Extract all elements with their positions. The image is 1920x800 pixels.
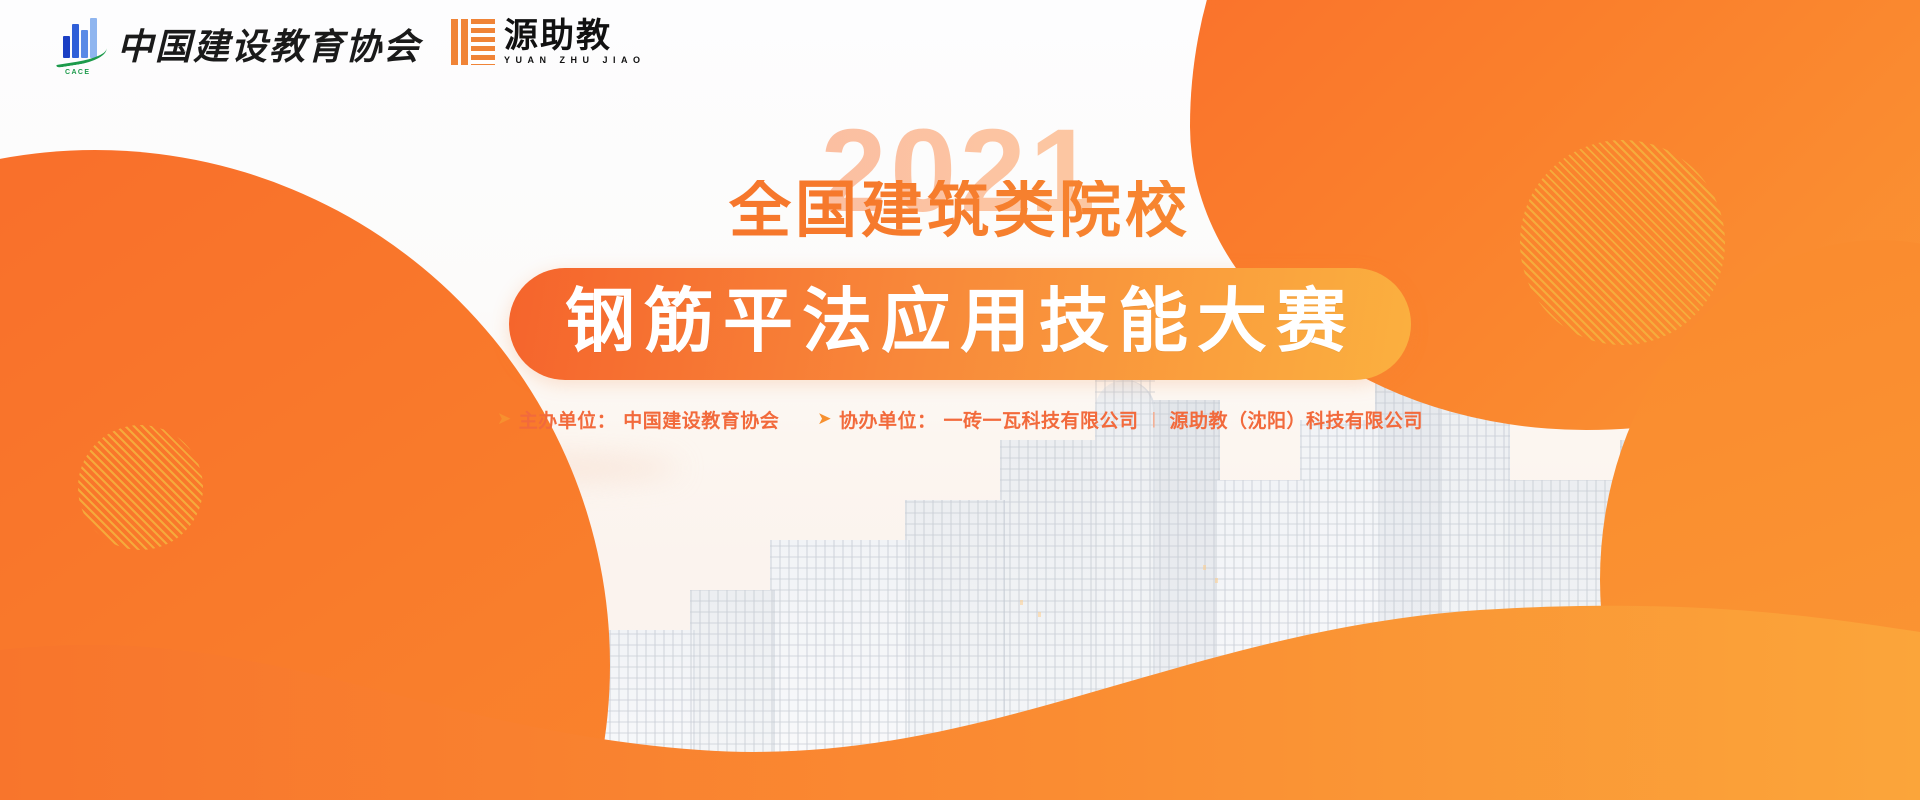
chevron-right-icon: ➤ [497, 410, 512, 427]
bar-chart-swoosh-icon: CACE [55, 14, 107, 70]
yuanzhujiao-wordmark: 源助教 YUAN ZHU JIAO [504, 19, 646, 66]
yuanzhujiao-name-cn: 源助教 [504, 19, 646, 55]
orange-wave-bottom [0, 500, 1920, 800]
banner-subtitle: 全国建筑类院校 [0, 180, 1920, 242]
yuanzhujiao-pinyin: YUAN ZHU JIAO [504, 55, 646, 65]
chevron-right-icon: ➤ [817, 410, 832, 427]
co-organizer-value-1: 一砖一瓦科技有限公司 [944, 406, 1139, 433]
yuanzhujiao-logo: 源助教 YUAN ZHU JIAO [451, 19, 646, 66]
cace-name-cn: 中国建设教育协会 [117, 29, 421, 70]
organizers-line: ➤ 主办单位： 中国建设教育协会 ➤ 协办单位： 一砖一瓦科技有限公司 | 源助… [0, 406, 1920, 433]
co-organizer: ➤ 协办单位： 一砖一瓦科技有限公司 | 源助教（沈阳）科技有限公司 [817, 406, 1423, 433]
co-organizer-value-2: 源助教（沈阳）科技有限公司 [1169, 406, 1423, 433]
green-swoosh-icon [54, 41, 108, 68]
banner-center-content: 2021 全国建筑类院校 钢筋平法应用技能大赛 ➤ 主办单位： 中国建设教育协会… [0, 118, 1920, 433]
striped-block-icon [451, 19, 495, 65]
co-organizer-label: 协办单位： [839, 406, 937, 433]
striped-circle-bottom-left [78, 425, 203, 550]
cace-logo: CACE 中国建设教育协会 [55, 14, 421, 70]
cace-abbr: CACE [65, 69, 90, 76]
banner-title: 钢筋平法应用技能大赛 [565, 284, 1355, 360]
banner-title-pill: 钢筋平法应用技能大赛 [509, 268, 1411, 380]
event-banner: CACE 中国建设教育协会 源助教 YUAN ZHU JIAO 2021 全国建… [0, 0, 1920, 800]
host-organizer: ➤ 主办单位： 中国建设教育协会 [497, 406, 779, 433]
organizer-separator: | [1146, 409, 1163, 429]
host-organizer-value: 中国建设教育协会 [623, 406, 779, 433]
host-organizer-label: 主办单位： [519, 406, 617, 433]
logo-row: CACE 中国建设教育协会 源助教 YUAN ZHU JIAO [55, 14, 646, 70]
